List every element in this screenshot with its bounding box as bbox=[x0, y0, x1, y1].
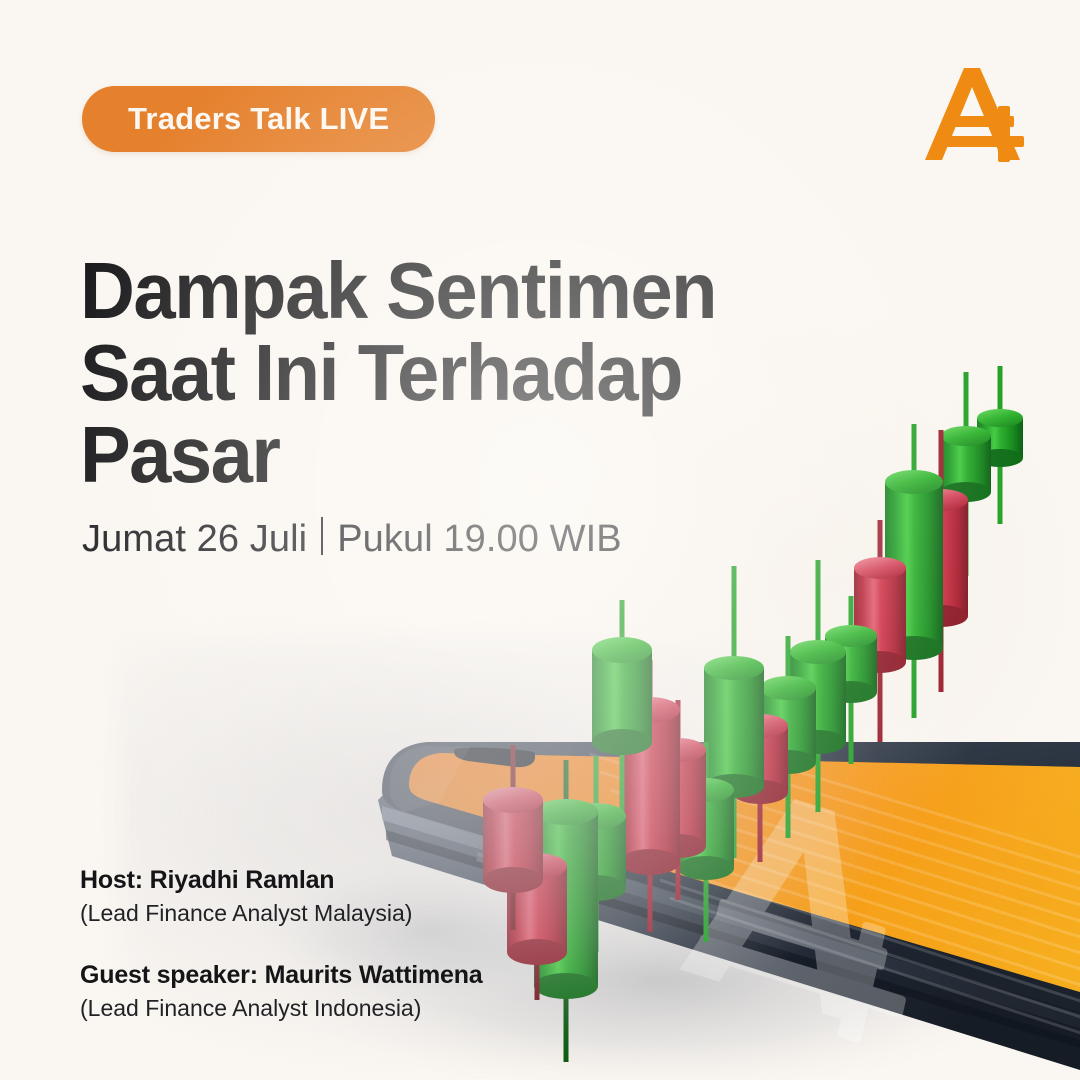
speaker-guest: Guest speaker: Maurits Wattimena (Lead F… bbox=[80, 961, 483, 1022]
schedule-separator bbox=[321, 517, 323, 555]
schedule-line: Jumat 26 Juli Pukul 19.00 WIB bbox=[82, 513, 622, 561]
speaker-guest-name: Guest speaker: Maurits Wattimena bbox=[80, 961, 483, 990]
page-title: Dampak Sentimen Saat Ini Terhadap Pasar bbox=[80, 250, 764, 497]
speaker-host: Host: Riyadhi Ramlan (Lead Finance Analy… bbox=[80, 866, 483, 927]
headline-line-1: Dampak Sentimen bbox=[80, 250, 764, 332]
promo-poster: Traders Talk LIVE Dampak Sentimen Saat I… bbox=[0, 0, 1080, 1080]
speaker-host-name: Host: Riyadhi Ramlan bbox=[80, 866, 483, 895]
live-badge-label: Traders Talk LIVE bbox=[128, 101, 389, 137]
speaker-list: Host: Riyadhi Ramlan (Lead Finance Analy… bbox=[80, 866, 483, 1022]
headline-line-3: Pasar bbox=[80, 414, 764, 496]
live-badge[interactable]: Traders Talk LIVE bbox=[82, 86, 435, 152]
headline-line-2: Saat Ini Terhadap bbox=[80, 332, 764, 414]
speaker-guest-role: (Lead Finance Analyst Indonesia) bbox=[80, 995, 483, 1022]
schedule-date: Jumat 26 Juli bbox=[82, 518, 307, 561]
schedule-time: Pukul 19.00 WIB bbox=[337, 518, 622, 561]
a-currency-logo-icon bbox=[924, 60, 1032, 164]
speaker-host-role: (Lead Finance Analyst Malaysia) bbox=[80, 900, 483, 927]
